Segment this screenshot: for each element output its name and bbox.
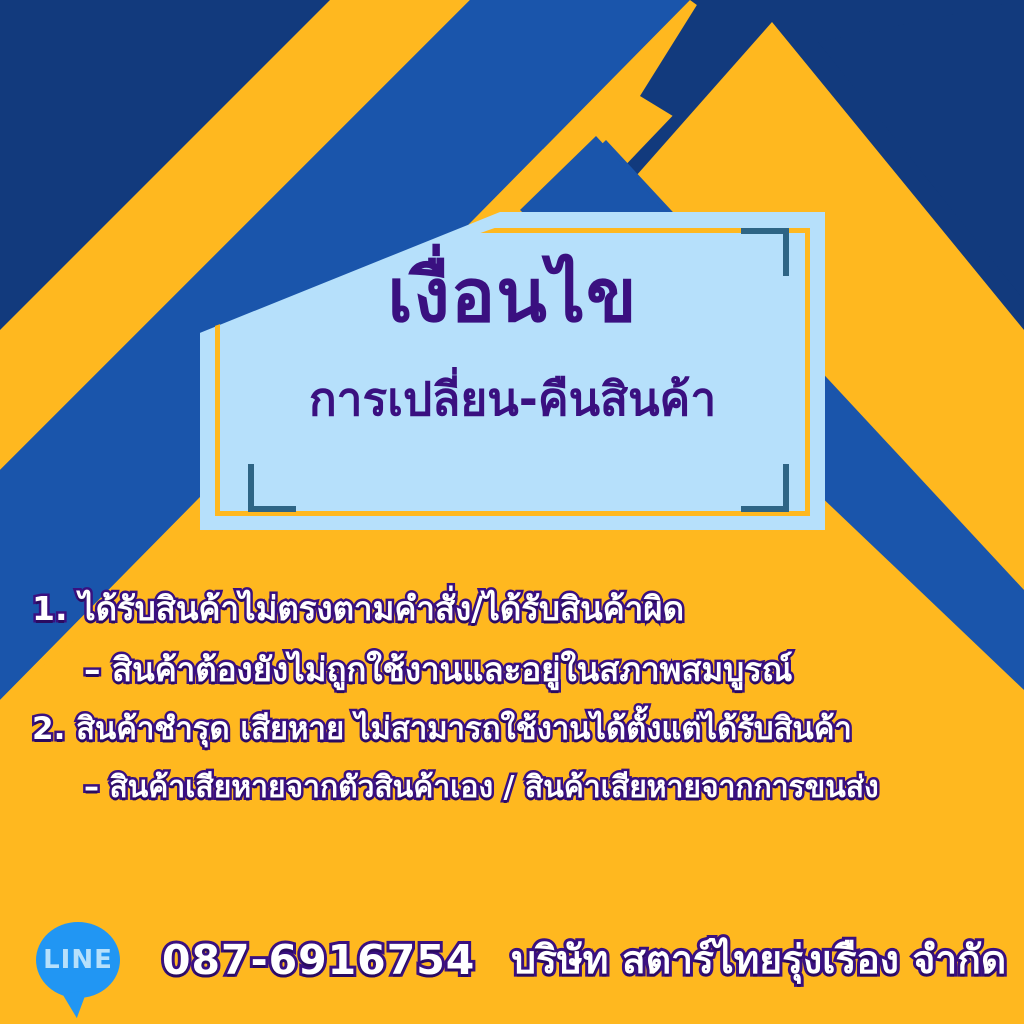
title-block: เงื่อนไข การเปลี่ยน-คืนสินค้า [200, 255, 825, 427]
footer-bar: LINE 087-6916754 บริษัท สตาร์ไทยรุ่งเรือ… [0, 910, 1024, 1010]
corner-bracket-bottom-right-icon [741, 464, 789, 512]
list-item: – สินค้าเสียหายจากตัวสินค้าเอง / สินค้าเ… [0, 773, 1024, 804]
line-icon-label: LINE [43, 945, 113, 975]
contact-phone-number: 087-6916754 [162, 936, 475, 984]
page-title: เงื่อนไข [200, 255, 825, 338]
list-item: – สินค้าต้องยังไม่ถูกใช้งานและอยู่ในสภาพ… [0, 653, 1024, 687]
poster-canvas: เงื่อนไข การเปลี่ยน-คืนสินค้า 1. ได้รับส… [0, 0, 1024, 1024]
corner-bracket-bottom-left-icon [248, 464, 296, 512]
line-app-icon[interactable]: LINE [36, 922, 120, 998]
company-name: บริษัท สตาร์ไทยรุ่งเรือง จำกัด [511, 929, 1006, 991]
list-item: 1. ได้รับสินค้าไม่ตรงตามคำสั่ง/ได้รับสิน… [0, 592, 1024, 626]
page-subtitle: การเปลี่ยน-คืนสินค้า [200, 372, 825, 427]
list-item: 2. สินค้าชำรุด เสียหาย ไม่สามารถใช้งานได… [0, 714, 1024, 746]
conditions-list: 1. ได้รับสินค้าไม่ตรงตามคำสั่ง/ได้รับสิน… [0, 592, 1024, 831]
